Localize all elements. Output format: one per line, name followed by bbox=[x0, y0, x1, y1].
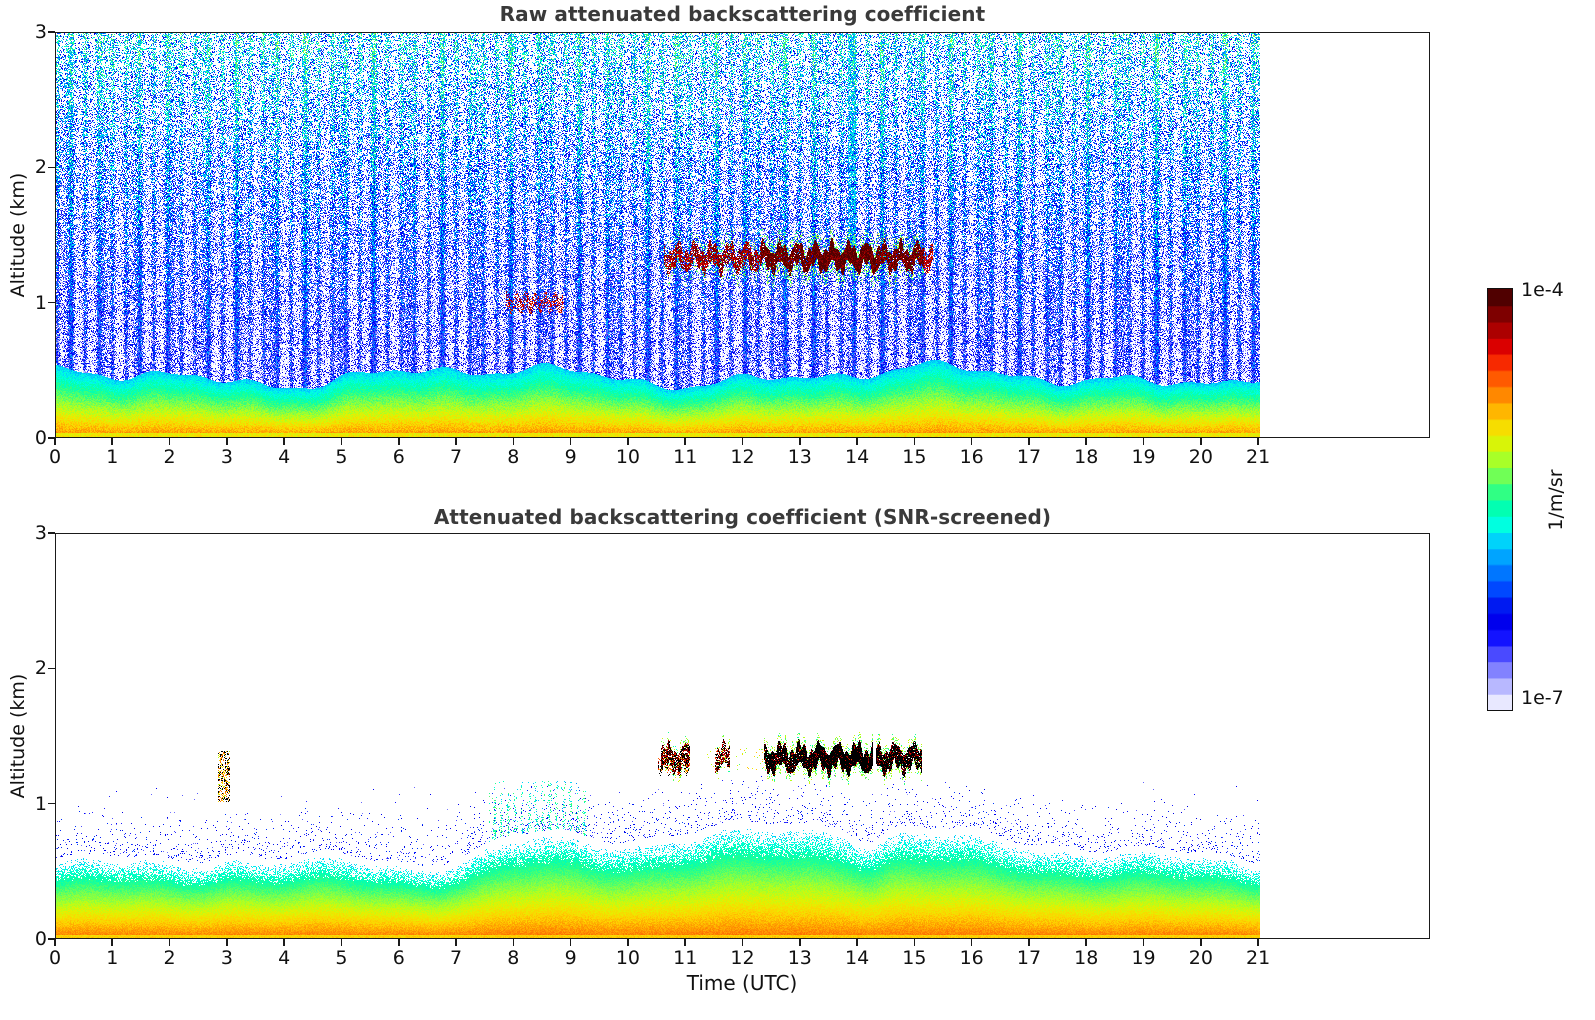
x-tick bbox=[1085, 438, 1087, 445]
x-tick bbox=[1085, 939, 1087, 946]
x-tick bbox=[513, 438, 515, 445]
x-tick-label: 0 bbox=[49, 446, 61, 468]
x-tick-label: 15 bbox=[902, 947, 926, 969]
x-tick-label: 17 bbox=[1017, 446, 1041, 468]
x-tick bbox=[169, 939, 171, 946]
x-tick bbox=[627, 939, 629, 946]
y-tick-label: 0 bbox=[19, 928, 47, 950]
x-tick bbox=[570, 939, 572, 946]
x-tick-label: 15 bbox=[902, 446, 926, 468]
x-tick-label: 2 bbox=[164, 947, 176, 969]
x-tick-label: 16 bbox=[960, 947, 984, 969]
x-tick bbox=[627, 438, 629, 445]
x-tick bbox=[856, 939, 858, 946]
y-tick bbox=[48, 31, 55, 33]
x-tick-label: 14 bbox=[845, 446, 869, 468]
x-tick-label: 18 bbox=[1074, 947, 1098, 969]
x-tick-label: 14 bbox=[845, 947, 869, 969]
x-tick-label: 19 bbox=[1131, 446, 1155, 468]
x-tick bbox=[1257, 939, 1259, 946]
x-tick bbox=[111, 939, 113, 946]
x-tick-label: 20 bbox=[1189, 947, 1213, 969]
x-axis-label: Time (UTC) bbox=[687, 971, 798, 995]
x-tick-label: 4 bbox=[278, 947, 290, 969]
x-tick-label: 6 bbox=[393, 446, 405, 468]
x-tick bbox=[283, 939, 285, 946]
x-tick-label: 10 bbox=[616, 446, 640, 468]
x-tick bbox=[455, 939, 457, 946]
y-tick-label: 0 bbox=[19, 427, 47, 449]
x-tick-label: 20 bbox=[1189, 446, 1213, 468]
x-tick-label: 6 bbox=[393, 947, 405, 969]
x-tick bbox=[1257, 438, 1259, 445]
x-tick bbox=[1200, 939, 1202, 946]
x-tick bbox=[398, 438, 400, 445]
x-tick-label: 9 bbox=[565, 446, 577, 468]
x-tick-label: 10 bbox=[616, 947, 640, 969]
x-tick-label: 3 bbox=[221, 947, 233, 969]
x-tick bbox=[570, 438, 572, 445]
x-tick bbox=[226, 939, 228, 946]
y-tick bbox=[48, 803, 55, 805]
x-tick bbox=[169, 438, 171, 445]
x-tick bbox=[742, 939, 744, 946]
x-tick bbox=[1200, 438, 1202, 445]
y-tick bbox=[48, 938, 55, 940]
colorbar-min-label: 1e-7 bbox=[1521, 687, 1564, 709]
y-tick bbox=[48, 532, 55, 534]
y-tick-label: 2 bbox=[19, 156, 47, 178]
x-tick bbox=[111, 438, 113, 445]
x-tick bbox=[856, 438, 858, 445]
x-tick bbox=[742, 438, 744, 445]
x-tick-label: 18 bbox=[1074, 446, 1098, 468]
colorbar bbox=[1487, 288, 1513, 711]
x-tick bbox=[54, 939, 56, 946]
x-tick bbox=[971, 939, 973, 946]
panel-title-screened: Attenuated backscattering coefficient (S… bbox=[55, 505, 1430, 529]
heatmap-raw bbox=[56, 33, 1429, 437]
x-tick-label: 21 bbox=[1246, 947, 1270, 969]
x-tick-label: 1 bbox=[106, 947, 118, 969]
x-tick bbox=[54, 438, 56, 445]
x-tick-label: 7 bbox=[450, 446, 462, 468]
x-tick bbox=[799, 939, 801, 946]
x-tick-label: 12 bbox=[730, 947, 754, 969]
x-tick-label: 5 bbox=[335, 947, 347, 969]
x-tick bbox=[799, 438, 801, 445]
y-axis-label-raw: Altitude (km) bbox=[7, 173, 29, 298]
x-tick bbox=[283, 438, 285, 445]
x-tick bbox=[1028, 438, 1030, 445]
y-tick bbox=[48, 668, 55, 670]
x-tick-label: 13 bbox=[788, 446, 812, 468]
y-tick-label: 1 bbox=[19, 292, 47, 314]
x-tick-label: 17 bbox=[1017, 947, 1041, 969]
x-tick bbox=[513, 939, 515, 946]
x-tick bbox=[455, 438, 457, 445]
colorbar-gradient bbox=[1487, 288, 1513, 711]
panel-title-raw: Raw attenuated backscattering coefficien… bbox=[55, 2, 1430, 26]
x-tick-label: 5 bbox=[335, 446, 347, 468]
heatmap-screened bbox=[56, 534, 1429, 938]
x-tick-label: 11 bbox=[673, 446, 697, 468]
x-tick bbox=[341, 438, 343, 445]
y-tick bbox=[48, 437, 55, 439]
x-tick bbox=[914, 939, 916, 946]
x-tick bbox=[1143, 939, 1145, 946]
colorbar-max-label: 1e-4 bbox=[1521, 279, 1564, 301]
y-axis-label-screened: Altitude (km) bbox=[7, 674, 29, 799]
y-tick bbox=[48, 302, 55, 304]
x-tick-label: 3 bbox=[221, 446, 233, 468]
y-tick-label: 2 bbox=[19, 657, 47, 679]
x-tick-label: 21 bbox=[1246, 446, 1270, 468]
x-tick-label: 19 bbox=[1131, 947, 1155, 969]
x-tick-label: 7 bbox=[450, 947, 462, 969]
x-tick-label: 2 bbox=[164, 446, 176, 468]
x-tick-label: 11 bbox=[673, 947, 697, 969]
y-tick-label: 3 bbox=[19, 21, 47, 43]
colorbar-unit-label: 1/m/sr bbox=[1545, 469, 1567, 530]
x-tick bbox=[226, 438, 228, 445]
x-tick bbox=[684, 939, 686, 946]
x-tick bbox=[914, 438, 916, 445]
x-tick-label: 4 bbox=[278, 446, 290, 468]
x-tick-label: 16 bbox=[960, 446, 984, 468]
x-tick-label: 12 bbox=[730, 446, 754, 468]
x-tick-label: 8 bbox=[507, 446, 519, 468]
y-tick-label: 3 bbox=[19, 522, 47, 544]
x-tick bbox=[1143, 438, 1145, 445]
x-tick-label: 13 bbox=[788, 947, 812, 969]
lidar-figure: Raw attenuated backscattering coefficien… bbox=[0, 0, 1595, 1020]
x-tick bbox=[971, 438, 973, 445]
x-tick bbox=[684, 438, 686, 445]
x-tick-label: 9 bbox=[565, 947, 577, 969]
plot-area-screened bbox=[55, 533, 1430, 939]
y-tick-label: 1 bbox=[19, 793, 47, 815]
plot-area-raw bbox=[55, 32, 1430, 438]
x-tick bbox=[341, 939, 343, 946]
x-tick bbox=[398, 939, 400, 946]
x-tick-label: 1 bbox=[106, 446, 118, 468]
x-tick-label: 8 bbox=[507, 947, 519, 969]
y-tick bbox=[48, 167, 55, 169]
x-tick bbox=[1028, 939, 1030, 946]
x-tick-label: 0 bbox=[49, 947, 61, 969]
